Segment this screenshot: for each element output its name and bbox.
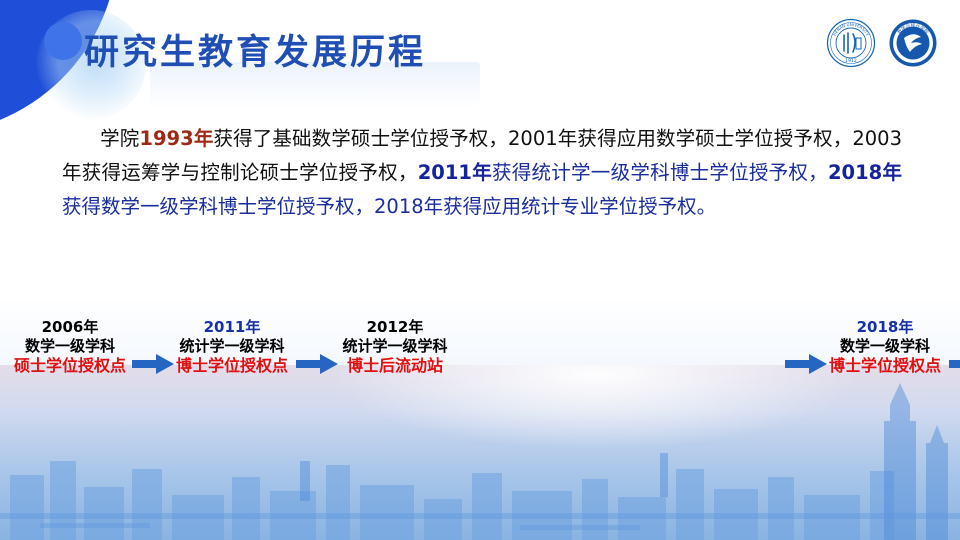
logo-group: 1912 HENAN UNIVERSITY 数学与统计学院 [826,18,938,68]
timeline-item-2[interactable]: 2011年 统计学一级学科 博士学位授权点 [162,318,302,375]
timeline-year-1: 2006年 [0,318,140,337]
para-seg-4: 获得统计学一级学科博士学位授予权， [492,161,828,184]
header-blue-dot [44,22,82,60]
para-seg-0: 学院 [100,127,139,150]
timeline-item-4[interactable]: 2018年 数学一级学科 博士学位授权点 [815,318,955,375]
body-paragraph: 学院1993年获得了基础数学硕士学位授予权，2001年获得应用数学硕士学位授予权… [62,122,902,224]
timeline-year-4: 2018年 [815,318,955,337]
timeline-item-1[interactable]: 2006年 数学一级学科 硕士学位授权点 [0,318,140,375]
slide: 研究生教育发展历程 1912 HENAN UNIVERSITY 数学与统计学院 [0,0,960,540]
timeline-year-3: 2012年 [325,318,465,337]
timeline-year-2: 2011年 [162,318,302,337]
henan-university-logo-icon: 1912 HENAN UNIVERSITY [826,18,876,68]
timeline-middle-1: 数学一级学科 [0,337,140,356]
timeline-item-3[interactable]: 2012年 统计学一级学科 博士后流动站 2018年 数学一级学科 博士学位授权… [325,318,465,375]
school-logo-icon: 数学与统计学院 [888,18,938,68]
timeline-middle-3: 统计学一级学科 [325,337,465,356]
timeline: 2006年 数学一级学科 硕士学位授权点 2011年 统计学一级学科 博士学位授… [0,318,960,394]
para-seg-1-year-1993: 1993年 [139,127,213,150]
timeline-arrow-4 [949,354,960,374]
timeline-bottom-2: 博士学位授权点 [162,356,302,375]
para-seg-5-year-2018: 2018年 [828,161,902,184]
para-seg-3-year-2011: 2011年 [418,161,492,184]
timeline-middle-4: 数学一级学科 [815,337,955,356]
para-seg-6: 获得数学一级学科博士学位授予权，2018年获得应用统计专业学位授予权。 [62,195,716,218]
timeline-bottom-4: 博士学位授权点 [815,356,955,375]
svg-text:1912: 1912 [845,58,857,64]
timeline-bottom-3: 博士后流动站 [325,356,465,375]
timeline-bottom-1: 硕士学位授权点 [0,356,140,375]
page-title: 研究生教育发展历程 [84,24,426,75]
timeline-middle-2: 统计学一级学科 [162,337,302,356]
